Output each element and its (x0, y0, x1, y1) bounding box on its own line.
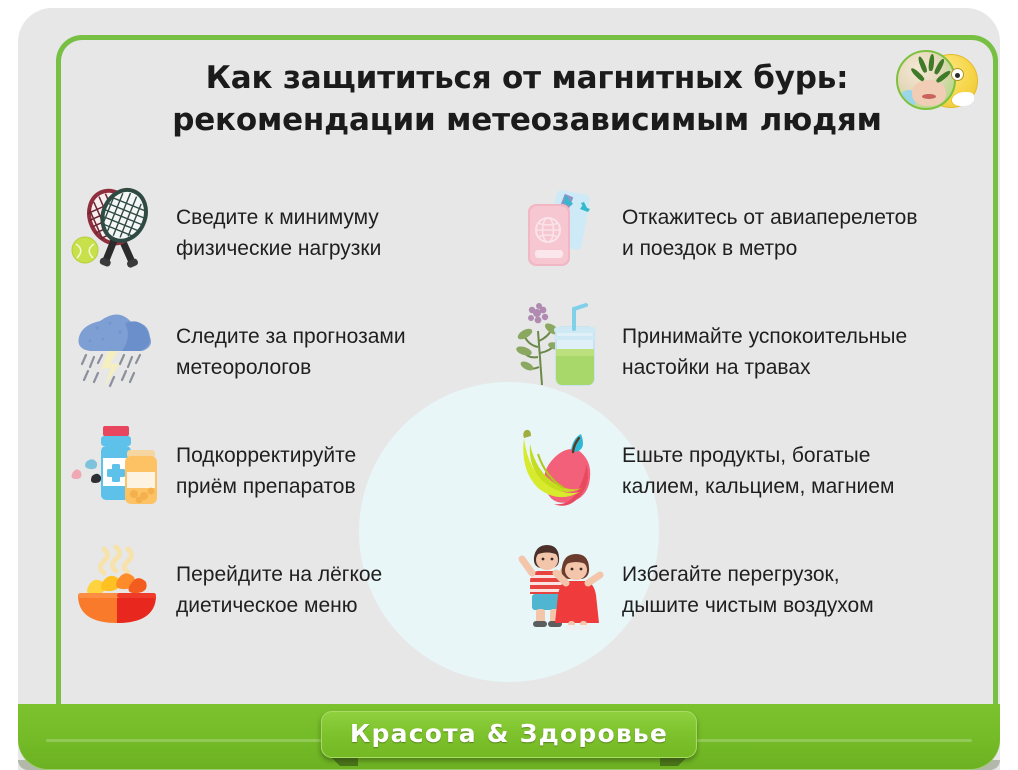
tip-text: Сведите к минимуму физические нагрузки (176, 182, 381, 264)
banana-apple-icon (516, 420, 610, 512)
tip-text: Избегайте перегрузок, дышите чистым возд… (622, 539, 874, 621)
tip-item: Сведите к минимуму физические нагрузки (70, 176, 516, 295)
hot-bowl-icon (70, 539, 164, 631)
children-playing-icon-art (516, 539, 610, 631)
tip-item: Откажитесь от авиаперелетов и поездок в … (516, 176, 990, 295)
medicine-bottles-icon-art (70, 420, 164, 512)
tip-item: Перейдите на лёгкое диетическое меню (70, 533, 516, 652)
tip-line-2: дышите чистым воздухом (622, 594, 874, 617)
tip-line-1: Избегайте перегрузок, (622, 563, 840, 586)
tips-grid: Сведите к минимуму физические нагрузки (70, 176, 990, 652)
tip-line-1: Перейдите на лёгкое (176, 563, 382, 586)
tip-item: Следите за прогнозами метеорологов (70, 295, 516, 414)
rain-cloud-icon-art (70, 301, 164, 393)
logo-bird-icon (952, 92, 974, 106)
logo-face-icon (912, 80, 946, 106)
tip-line-1: Ешьте продукты, богатые (622, 444, 870, 467)
page-title: Как защититься от магнитных бурь: рекоме… (126, 58, 928, 141)
footer-badge-label: Красота & Здоровье (350, 719, 668, 748)
tip-item: Ешьте продукты, богатые калием, кальцием… (516, 414, 990, 533)
tip-text: Следите за прогнозами метеорологов (176, 301, 406, 383)
header: Как защититься от магнитных бурь: рекоме… (56, 44, 998, 141)
tip-line-1: Принимайте успокоительные (622, 325, 907, 348)
tip-text: Перейдите на лёгкое диетическое меню (176, 539, 382, 621)
tip-line-2: приём препаратов (176, 475, 356, 498)
brand-logo (896, 50, 978, 112)
tip-line-2: физические нагрузки (176, 237, 381, 260)
tip-line-2: и поездок в метро (622, 237, 797, 260)
herbal-drink-icon-art (516, 301, 610, 393)
tip-line-1: Следите за прогнозами (176, 325, 406, 348)
tip-line-2: диетическое меню (176, 594, 358, 617)
tip-item: Принимайте успокоительные настойки на тр… (516, 295, 990, 414)
tip-text: Откажитесь от авиаперелетов и поездок в … (622, 182, 917, 264)
tip-text: Принимайте успокоительные настойки на тр… (622, 301, 907, 383)
passport-tickets-icon (516, 182, 610, 274)
medicine-bottles-icon (70, 420, 164, 512)
hot-bowl-icon-art (70, 539, 164, 631)
logo-lips-icon (922, 94, 936, 99)
rain-cloud-icon (70, 301, 164, 393)
footer-badge[interactable]: Красота & Здоровье (321, 711, 697, 758)
tip-line-2: настойки на травах (622, 356, 811, 379)
tip-text: Ешьте продукты, богатые калием, кальцием… (622, 420, 894, 502)
logo-eye-icon (951, 68, 964, 81)
content-card: Как защититься от магнитных бурь: рекоме… (18, 8, 1000, 770)
herbal-drink-icon (516, 301, 610, 393)
children-playing-icon (516, 539, 610, 631)
banana-apple-icon-art (516, 420, 610, 512)
tip-text: Подкорректируйте приём препаратов (176, 420, 356, 502)
logo-leaf-icon (928, 54, 935, 71)
tip-item: Подкорректируйте приём препаратов (70, 414, 516, 533)
tennis-rackets-icon (70, 182, 164, 274)
passport-tickets-icon-art (516, 182, 610, 274)
logo-green-circle (896, 50, 956, 110)
tennis-rackets-icon-art (70, 182, 164, 274)
tip-line-1: Подкорректируйте (176, 444, 356, 467)
tip-line-2: метеорологов (176, 356, 311, 379)
tip-item: Избегайте перегрузок, дышите чистым возд… (516, 533, 990, 652)
infographic-page: Как защититься от магнитных бурь: рекоме… (0, 0, 1018, 770)
title-line-2: рекомендации метеозависимым людям (126, 100, 928, 142)
tip-line-2: калием, кальцием, магнием (622, 475, 894, 498)
tip-line-1: Сведите к минимуму (176, 206, 379, 229)
title-line-1: Как защититься от магнитных бурь: (126, 58, 928, 100)
tip-line-1: Откажитесь от авиаперелетов (622, 206, 917, 229)
logo-leaf-icon (917, 56, 928, 74)
